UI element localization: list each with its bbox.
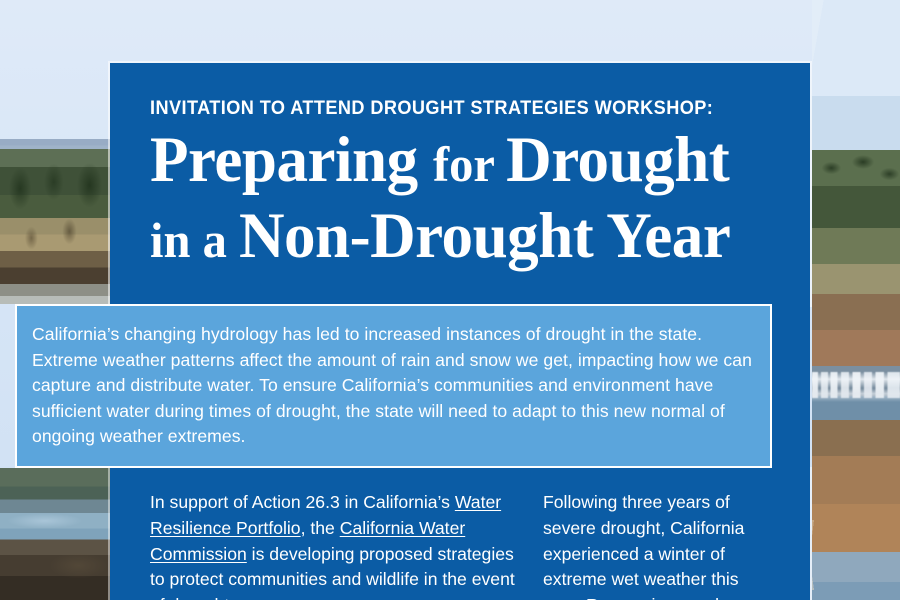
body-right-part1: Following three years of severe drought,… <box>543 492 753 600</box>
headline-word-non-drought-year: Non-Drought Year <box>239 200 730 272</box>
panel-rail-right <box>772 303 810 469</box>
headline-word-preparing: Preparing <box>150 124 433 196</box>
intro-callout-text: California’s changing hydrology has led … <box>32 322 758 450</box>
marina-docks <box>812 372 900 398</box>
body-left-part2: , the <box>301 518 340 538</box>
dry-grass-foreground <box>812 520 900 590</box>
body-column-right: Following three years of severe drought,… <box>543 490 779 600</box>
headline-word-in-a: in a <box>150 212 239 268</box>
body-left-part1: In support of Action 26.3 in California’… <box>150 492 455 512</box>
poster-headline: Preparing for Drought in a Non-Drought Y… <box>150 124 781 276</box>
low-reservoir-marina-photo <box>812 0 900 600</box>
headline-word-for: for <box>433 136 506 192</box>
body-column-left: In support of Action 26.3 in California’… <box>150 490 518 600</box>
intro-callout-box: California’s changing hydrology has led … <box>15 304 772 468</box>
reservoir-shoreline-photo <box>0 468 112 600</box>
headline-word-drought: Drought <box>506 124 729 196</box>
drought-workshop-poster: INVITATION TO ATTEND DROUGHT STRATEGIES … <box>0 0 900 600</box>
dry-woodland-photo <box>0 139 112 304</box>
poster-kicker: INVITATION TO ATTEND DROUGHT STRATEGIES … <box>150 97 745 120</box>
